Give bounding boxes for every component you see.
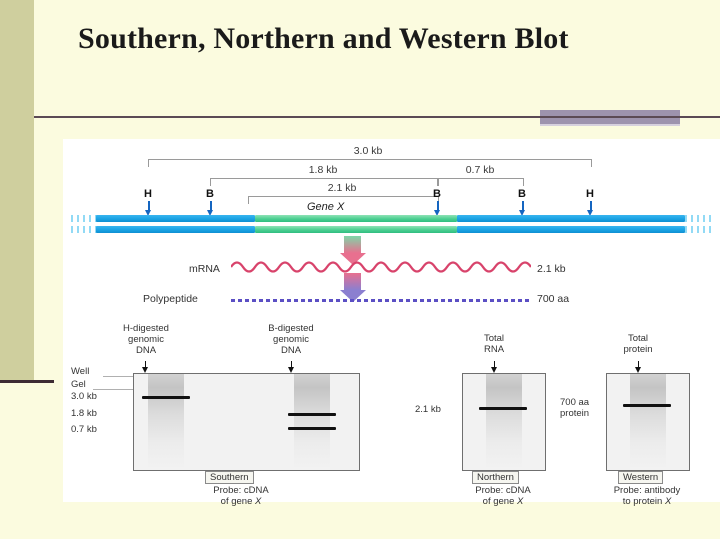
northern-size-label: 2.1 kb <box>415 404 441 415</box>
sidebar-rule <box>0 380 54 383</box>
southern-lane2-label-line1: B-digested <box>231 323 351 334</box>
southern-lane1-label-line3: DNA <box>86 345 206 356</box>
western-blot-name: Western <box>618 471 663 484</box>
dna-frayed-right-bottom <box>685 226 711 233</box>
bracket-0-7kb <box>437 178 524 186</box>
northern-blot-name: Northern <box>472 471 519 484</box>
northern-lane-label: Total RNA <box>449 333 539 355</box>
northern-band-2-1kb <box>479 407 527 410</box>
title-underline <box>34 116 720 118</box>
restriction-site-h-left <box>144 201 153 216</box>
polypeptide-label: Polypeptide <box>143 293 198 305</box>
southern-lane1-label: H-digested genomic DNA <box>86 323 206 357</box>
western-size-label-line1: 700 aa <box>560 397 589 408</box>
polypeptide-size-label: 700 aa <box>537 293 569 305</box>
western-lane-label-line1: Total <box>583 333 693 344</box>
site-label-h-right: H <box>586 188 594 200</box>
western-lane-1 <box>630 374 666 470</box>
western-band-700aa <box>623 404 671 407</box>
site-label-h-left: H <box>144 188 152 200</box>
figure-panel: 3.0 kb 1.8 kb 0.7 kb 2.1 kb H B B B H Ge… <box>63 139 720 502</box>
polypeptide-line <box>231 299 531 302</box>
western-lane-label: Total protein <box>583 333 693 355</box>
southern-gel <box>133 373 360 471</box>
southern-band-3-0kb <box>142 396 190 399</box>
dna-gene-region-top <box>255 215 457 222</box>
restriction-site-b-3 <box>518 201 527 216</box>
dna-gene-region-bottom <box>255 226 457 233</box>
western-size-label-line2: protein <box>560 408 589 419</box>
slide-sidebar-band <box>0 0 34 380</box>
southern-probe-line2: of gene X <box>176 496 306 507</box>
bracket-label-3-0kb: 3.0 kb <box>308 145 428 157</box>
gene-x-label: Gene X <box>307 201 344 213</box>
gel-mark-0-7kb: 0.7 kb <box>71 424 97 435</box>
dna-strand-bottom-right <box>457 226 685 233</box>
western-probe-line2: to protein X <box>582 496 712 507</box>
gel-mark-3-0kb: 3.0 kb <box>71 391 97 402</box>
southern-lane2-label-line2: genomic <box>231 334 351 345</box>
translation-arrow <box>344 273 361 302</box>
southern-probe-caption: Probe: cDNA of gene X <box>176 485 306 508</box>
southern-lane-2 <box>294 374 330 470</box>
western-size-label: 700 aa protein <box>560 397 589 419</box>
site-label-b-2: B <box>433 188 441 200</box>
bracket-label-1-8kb: 1.8 kb <box>263 164 383 176</box>
dna-strand-bottom-left <box>96 226 255 233</box>
gel-leader-gel <box>93 389 135 390</box>
gel-label-well: Well <box>71 366 89 377</box>
slide: Southern, Northern and Western Blot 3.0 … <box>0 0 720 539</box>
northern-lane-label-line2: RNA <box>449 344 539 355</box>
northern-probe-caption: Probe: cDNA of gene X <box>438 485 568 508</box>
western-probe-line1: Probe: antibody <box>582 485 712 496</box>
southern-lane2-label-line3: DNA <box>231 345 351 356</box>
dna-strand-top-left <box>96 215 255 222</box>
southern-blot-name: Southern <box>205 471 254 484</box>
title-accent-bar <box>540 110 680 126</box>
southern-lane1-label-line1: H-digested <box>86 323 206 334</box>
southern-lane2-label: B-digested genomic DNA <box>231 323 351 357</box>
dna-frayed-right-top <box>685 215 711 222</box>
gene-map: 3.0 kb 1.8 kb 0.7 kb 2.1 kb H B B B H Ge… <box>63 139 720 239</box>
southern-lane1-label-line2: genomic <box>86 334 206 345</box>
mrna-size-label: 2.1 kb <box>537 263 566 275</box>
gel-mark-1-8kb: 1.8 kb <box>71 408 97 419</box>
mrna-label: mRNA <box>189 263 220 275</box>
southern-probe-line1: Probe: cDNA <box>176 485 306 496</box>
northern-probe-line2: of gene X <box>438 496 568 507</box>
dna-frayed-left-top <box>71 215 97 222</box>
western-probe-caption: Probe: antibody to protein X <box>582 485 712 508</box>
dna-strand-top-right <box>457 215 685 222</box>
northern-lane-1 <box>486 374 522 470</box>
restriction-site-h-right <box>586 201 595 216</box>
northern-gel <box>462 373 546 471</box>
restriction-site-b-1 <box>206 201 215 216</box>
page-title: Southern, Northern and Western Blot <box>78 20 638 58</box>
western-lane-label-line2: protein <box>583 344 693 355</box>
bracket-label-0-7kb: 0.7 kb <box>420 164 540 176</box>
site-label-b-1: B <box>206 188 214 200</box>
southern-band-1-8kb <box>288 413 336 416</box>
western-gel <box>606 373 690 471</box>
southern-band-0-7kb <box>288 427 336 430</box>
restriction-site-b-2 <box>433 201 442 216</box>
bracket-label-2-1kb: 2.1 kb <box>282 182 402 194</box>
dna-frayed-left-bottom <box>71 226 97 233</box>
gel-label-gel: Gel <box>71 379 86 390</box>
southern-lane-1 <box>148 374 184 470</box>
northern-lane-label-line1: Total <box>449 333 539 344</box>
northern-probe-line1: Probe: cDNA <box>438 485 568 496</box>
gel-leader-well <box>103 376 135 377</box>
site-label-b-3: B <box>518 188 526 200</box>
mrna-wavy-line <box>231 257 531 277</box>
